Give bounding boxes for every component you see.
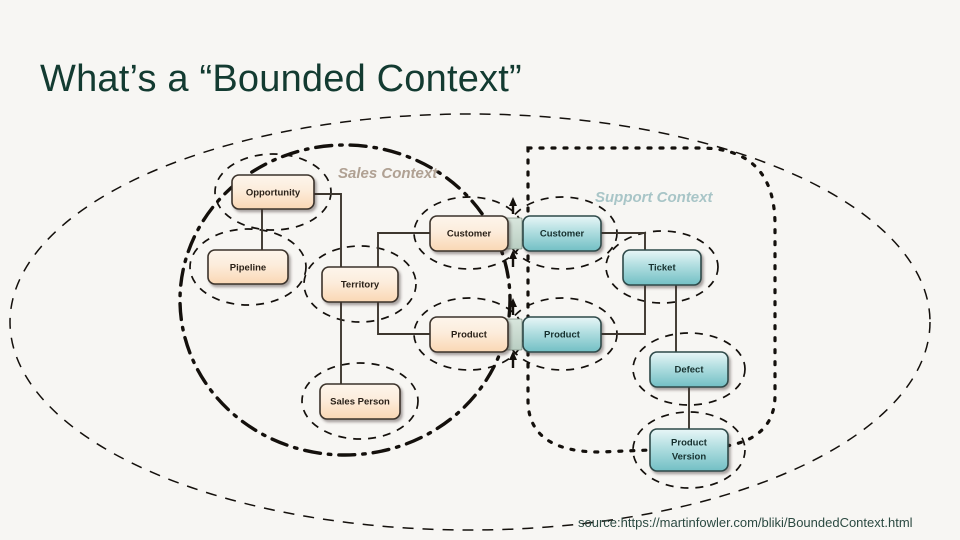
- source-note: source:https://martinfowler.com/bliki/Bo…: [578, 515, 913, 530]
- node-ticket[interactable]: Ticket: [623, 250, 701, 285]
- node-label-ticket: Ticket: [648, 263, 676, 274]
- node-customer-support[interactable]: Customer: [523, 216, 601, 251]
- support-context-label: Support Context: [595, 189, 713, 206]
- node-label-opportunity: Opportunity: [246, 188, 301, 199]
- node-product-version[interactable]: Product Version: [650, 429, 728, 471]
- node-label-product-sales: Product: [451, 330, 488, 341]
- node-label-customer-sales: Customer: [447, 229, 492, 240]
- node-label-sales-person: Sales Person: [330, 397, 390, 408]
- node-territory[interactable]: Territory: [322, 267, 398, 302]
- node-pipeline[interactable]: Pipeline: [208, 250, 288, 284]
- node-label-product-version-line2: Version: [672, 452, 707, 463]
- node-label-pipeline: Pipeline: [230, 263, 266, 274]
- link-opportunity-territory: [314, 194, 341, 267]
- link-territory-customer: [378, 233, 430, 267]
- node-sales-person[interactable]: Sales Person: [320, 384, 400, 419]
- link-customersupport-ticket: [601, 233, 645, 250]
- node-label-product-support: Product: [544, 330, 581, 341]
- node-label-territory: Territory: [341, 280, 380, 291]
- bounded-context-diagram: Sales Context Support Context: [0, 0, 960, 540]
- slide-canvas: What’s a “Bounded Context”: [0, 0, 960, 540]
- node-label-customer-support: Customer: [540, 229, 585, 240]
- node-label-defect: Defect: [674, 365, 704, 376]
- node-product-sales[interactable]: Product: [430, 317, 508, 352]
- node-opportunity[interactable]: Opportunity: [232, 175, 314, 209]
- node-label-product-version-line1: Product: [671, 438, 708, 449]
- sales-context-label: Sales Context: [338, 165, 438, 182]
- link-productsupport-ticket: [601, 285, 645, 334]
- node-customer-sales[interactable]: Customer: [430, 216, 508, 251]
- node-product-support[interactable]: Product: [523, 317, 601, 352]
- node-defect[interactable]: Defect: [650, 352, 728, 387]
